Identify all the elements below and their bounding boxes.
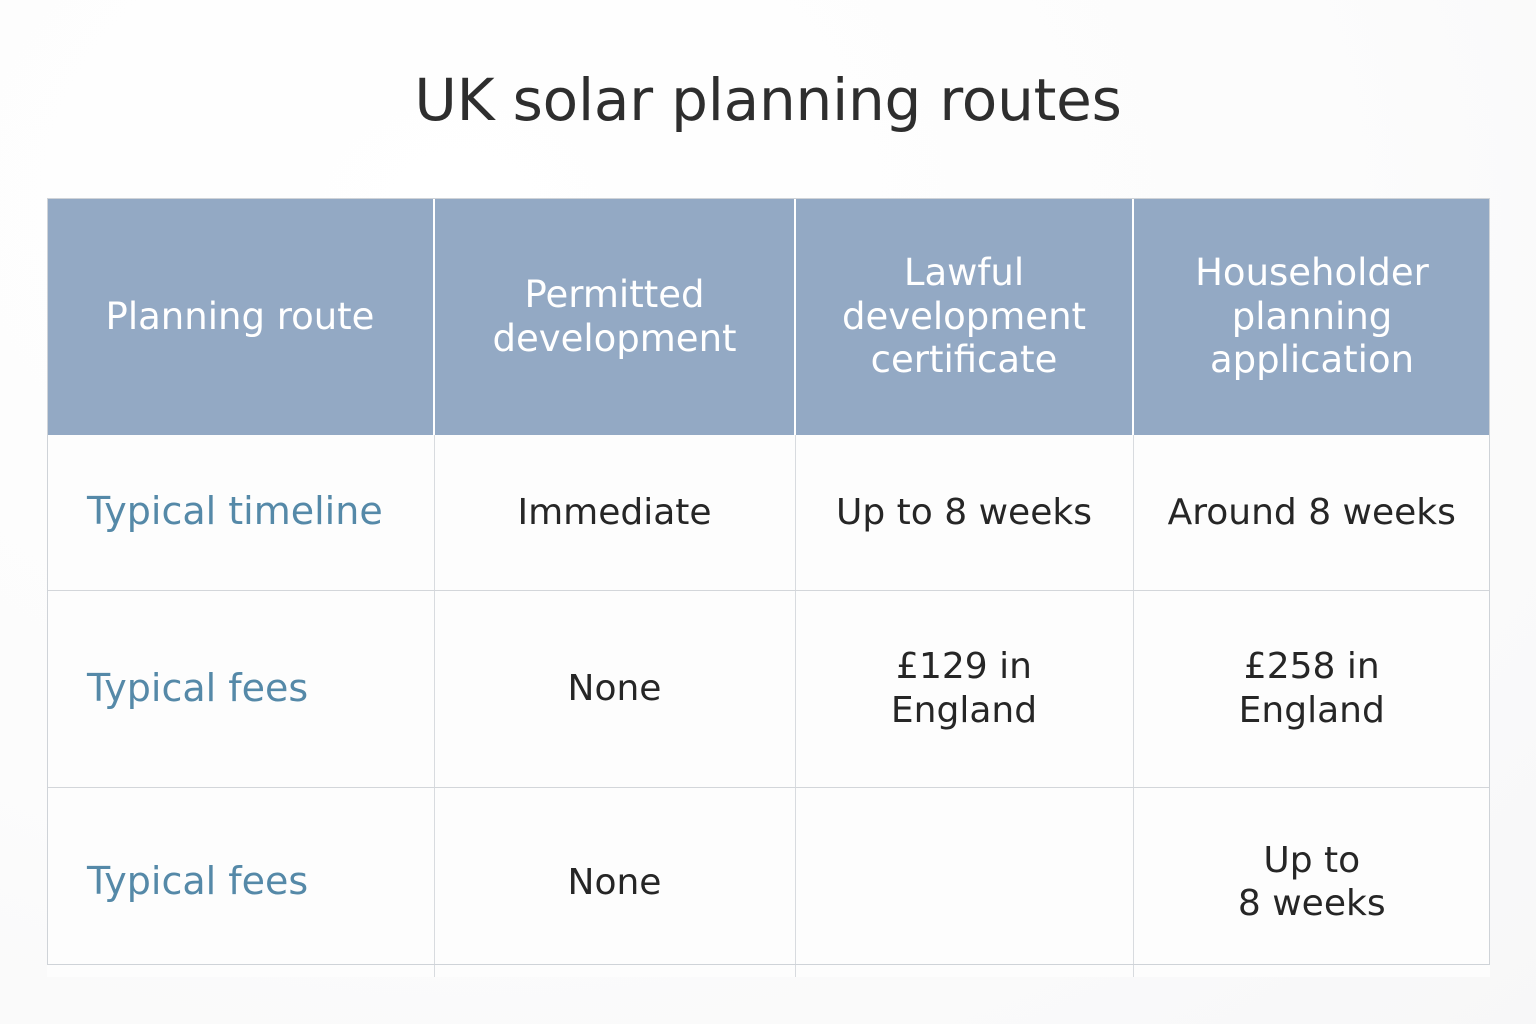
- column-header-permitted-development: Permitted development: [434, 198, 795, 435]
- row-label-typical-timeline: Typical timeline: [47, 435, 434, 590]
- table-header: Planning route Permitted development Law…: [47, 198, 1490, 435]
- cell-fees2-householder-planning-application: Up to 8 weeks: [1133, 787, 1490, 977]
- cell-fees-lawful-development-certificate: £129 in England: [795, 590, 1133, 787]
- cell-fees2-permitted-development: None: [434, 787, 795, 977]
- cell-fees-permitted-development: None: [434, 590, 795, 787]
- cell-fees2-hpa-line2: 8 weeks: [1146, 882, 1479, 925]
- cell-timeline-householder-planning-application: Around 8 weeks: [1133, 435, 1490, 590]
- cell-timeline-permitted-development: Immediate: [434, 435, 795, 590]
- column-header-lawful-development-certificate: Lawful development certificate: [795, 198, 1133, 435]
- table-body: Typical timeline Immediate Up to 8 weeks…: [47, 435, 1490, 977]
- column-header-householder-planning-application: Householder planning application: [1133, 198, 1490, 435]
- column-header-householder-planning-application-line1: Householder: [1148, 251, 1476, 295]
- cell-fees-householder-planning-application: £258 in England: [1133, 590, 1490, 787]
- cell-fees-hpa-line2: England: [1146, 689, 1479, 732]
- comparison-table-container: Planning route Permitted development Law…: [47, 198, 1490, 965]
- page-title: UK solar planning routes: [0, 66, 1536, 134]
- table-row: Typical fees None Up to 8 weeks: [47, 787, 1490, 977]
- column-header-planning-route-label: Planning route: [61, 295, 419, 339]
- planning-routes-table: Planning route Permitted development Law…: [47, 198, 1490, 977]
- column-header-householder-planning-application-line3: application: [1148, 338, 1476, 382]
- cell-fees-ldc-line2: England: [808, 689, 1121, 732]
- row-label-typical-fees-1: Typical fees: [47, 590, 434, 787]
- column-header-planning-route: Planning route: [47, 198, 434, 435]
- table-header-row: Planning route Permitted development Law…: [47, 198, 1490, 435]
- column-header-lawful-development-certificate-line1: Lawful: [810, 251, 1118, 295]
- table-row: Typical timeline Immediate Up to 8 weeks…: [47, 435, 1490, 590]
- cell-fees2-hpa-line1: Up to: [1146, 839, 1479, 882]
- column-header-lawful-development-certificate-line2: development: [810, 295, 1118, 339]
- cell-fees2-lawful-development-certificate: [795, 787, 1133, 977]
- row-label-typical-fees-2: Typical fees: [47, 787, 434, 977]
- column-header-permitted-development-line2: development: [449, 317, 780, 361]
- column-header-permitted-development-line1: Permitted: [449, 273, 780, 317]
- cell-fees-ldc-line1: £129 in: [808, 645, 1121, 688]
- cell-timeline-lawful-development-certificate: Up to 8 weeks: [795, 435, 1133, 590]
- page-background: UK solar planning routes Planning route …: [0, 0, 1536, 1024]
- column-header-lawful-development-certificate-line3: certificate: [810, 338, 1118, 382]
- cell-fees-hpa-line1: £258 in: [1146, 645, 1479, 688]
- column-header-householder-planning-application-line2: planning: [1148, 295, 1476, 339]
- table-row: Typical fees None £129 in England £258 i…: [47, 590, 1490, 787]
